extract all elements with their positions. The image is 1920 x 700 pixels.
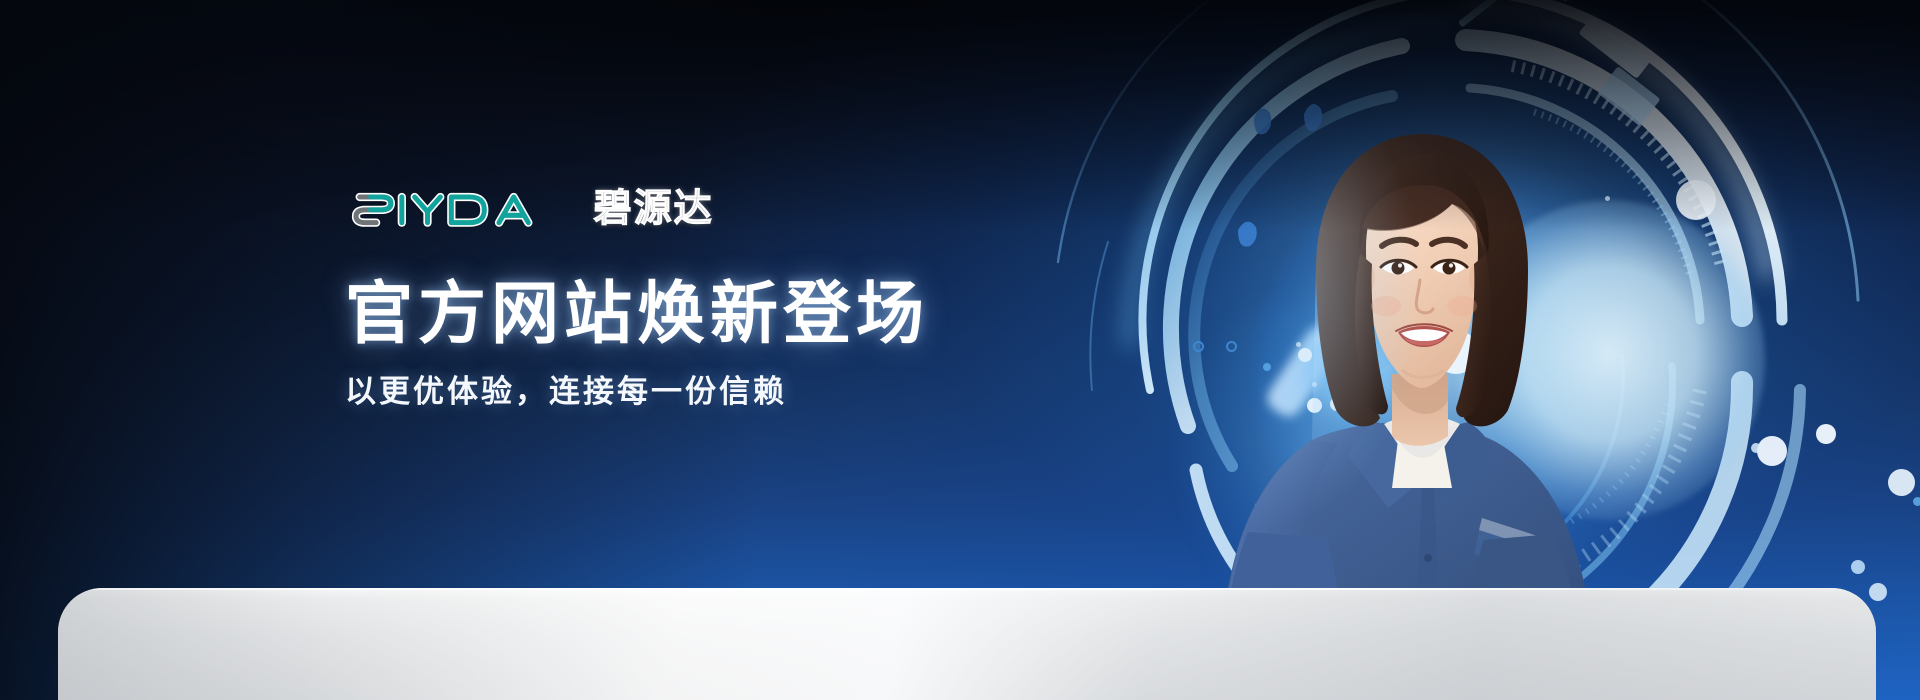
hud-dot <box>1307 398 1322 413</box>
hud-dot <box>1193 341 1204 352</box>
brand-logo[interactable]: .ls{ fill:none; stroke:#ffffff; stroke-w… <box>345 178 1105 230</box>
hud-dot <box>1816 424 1836 444</box>
hud-dot <box>1888 469 1915 496</box>
hud-dot <box>1455 300 1461 306</box>
hud-dot <box>1325 352 1347 374</box>
panel-sheen <box>58 588 1876 700</box>
hud-dot <box>1348 394 1355 401</box>
hud-dot <box>1342 367 1351 376</box>
hud-dot <box>1330 397 1344 411</box>
hud-dot <box>1296 342 1301 347</box>
page-title: 官方网站焕新登场 <box>345 278 1105 351</box>
hud-dot <box>1226 341 1237 352</box>
hud-dot <box>1418 218 1428 228</box>
hero-content: .ls{ fill:none; stroke:#ffffff; stroke-w… <box>345 178 1105 412</box>
brand-logo-cn: 碧源达 <box>594 190 714 230</box>
hud-dot <box>1298 348 1312 362</box>
portrait-halo-glow <box>1455 200 1765 520</box>
hud-dot <box>1751 443 1761 453</box>
page-subtitle: 以更优体验，连接每一份信赖 <box>345 373 1105 412</box>
panel-highlight-line <box>58 588 1876 590</box>
hero-banner: .ls{ fill:none; stroke:#ffffff; stroke-w… <box>0 0 1920 700</box>
hud-dot <box>1676 180 1716 220</box>
hud-left-glow <box>1175 300 1415 630</box>
hud-dot <box>1434 330 1478 374</box>
hud-dot <box>1312 382 1317 387</box>
hud-dot <box>1263 363 1271 371</box>
silver-shelf-panel <box>58 588 1876 700</box>
hud-dot <box>1851 560 1865 574</box>
hud-core-glow <box>1255 160 1685 590</box>
hud-dot <box>1757 436 1787 466</box>
hud-dot <box>1605 196 1610 201</box>
biyda-logo-icon: .ls{ fill:none; stroke:#ffffff; stroke-w… <box>345 186 580 230</box>
hud-dot <box>1303 470 1307 474</box>
hud-dot <box>1913 497 1920 506</box>
